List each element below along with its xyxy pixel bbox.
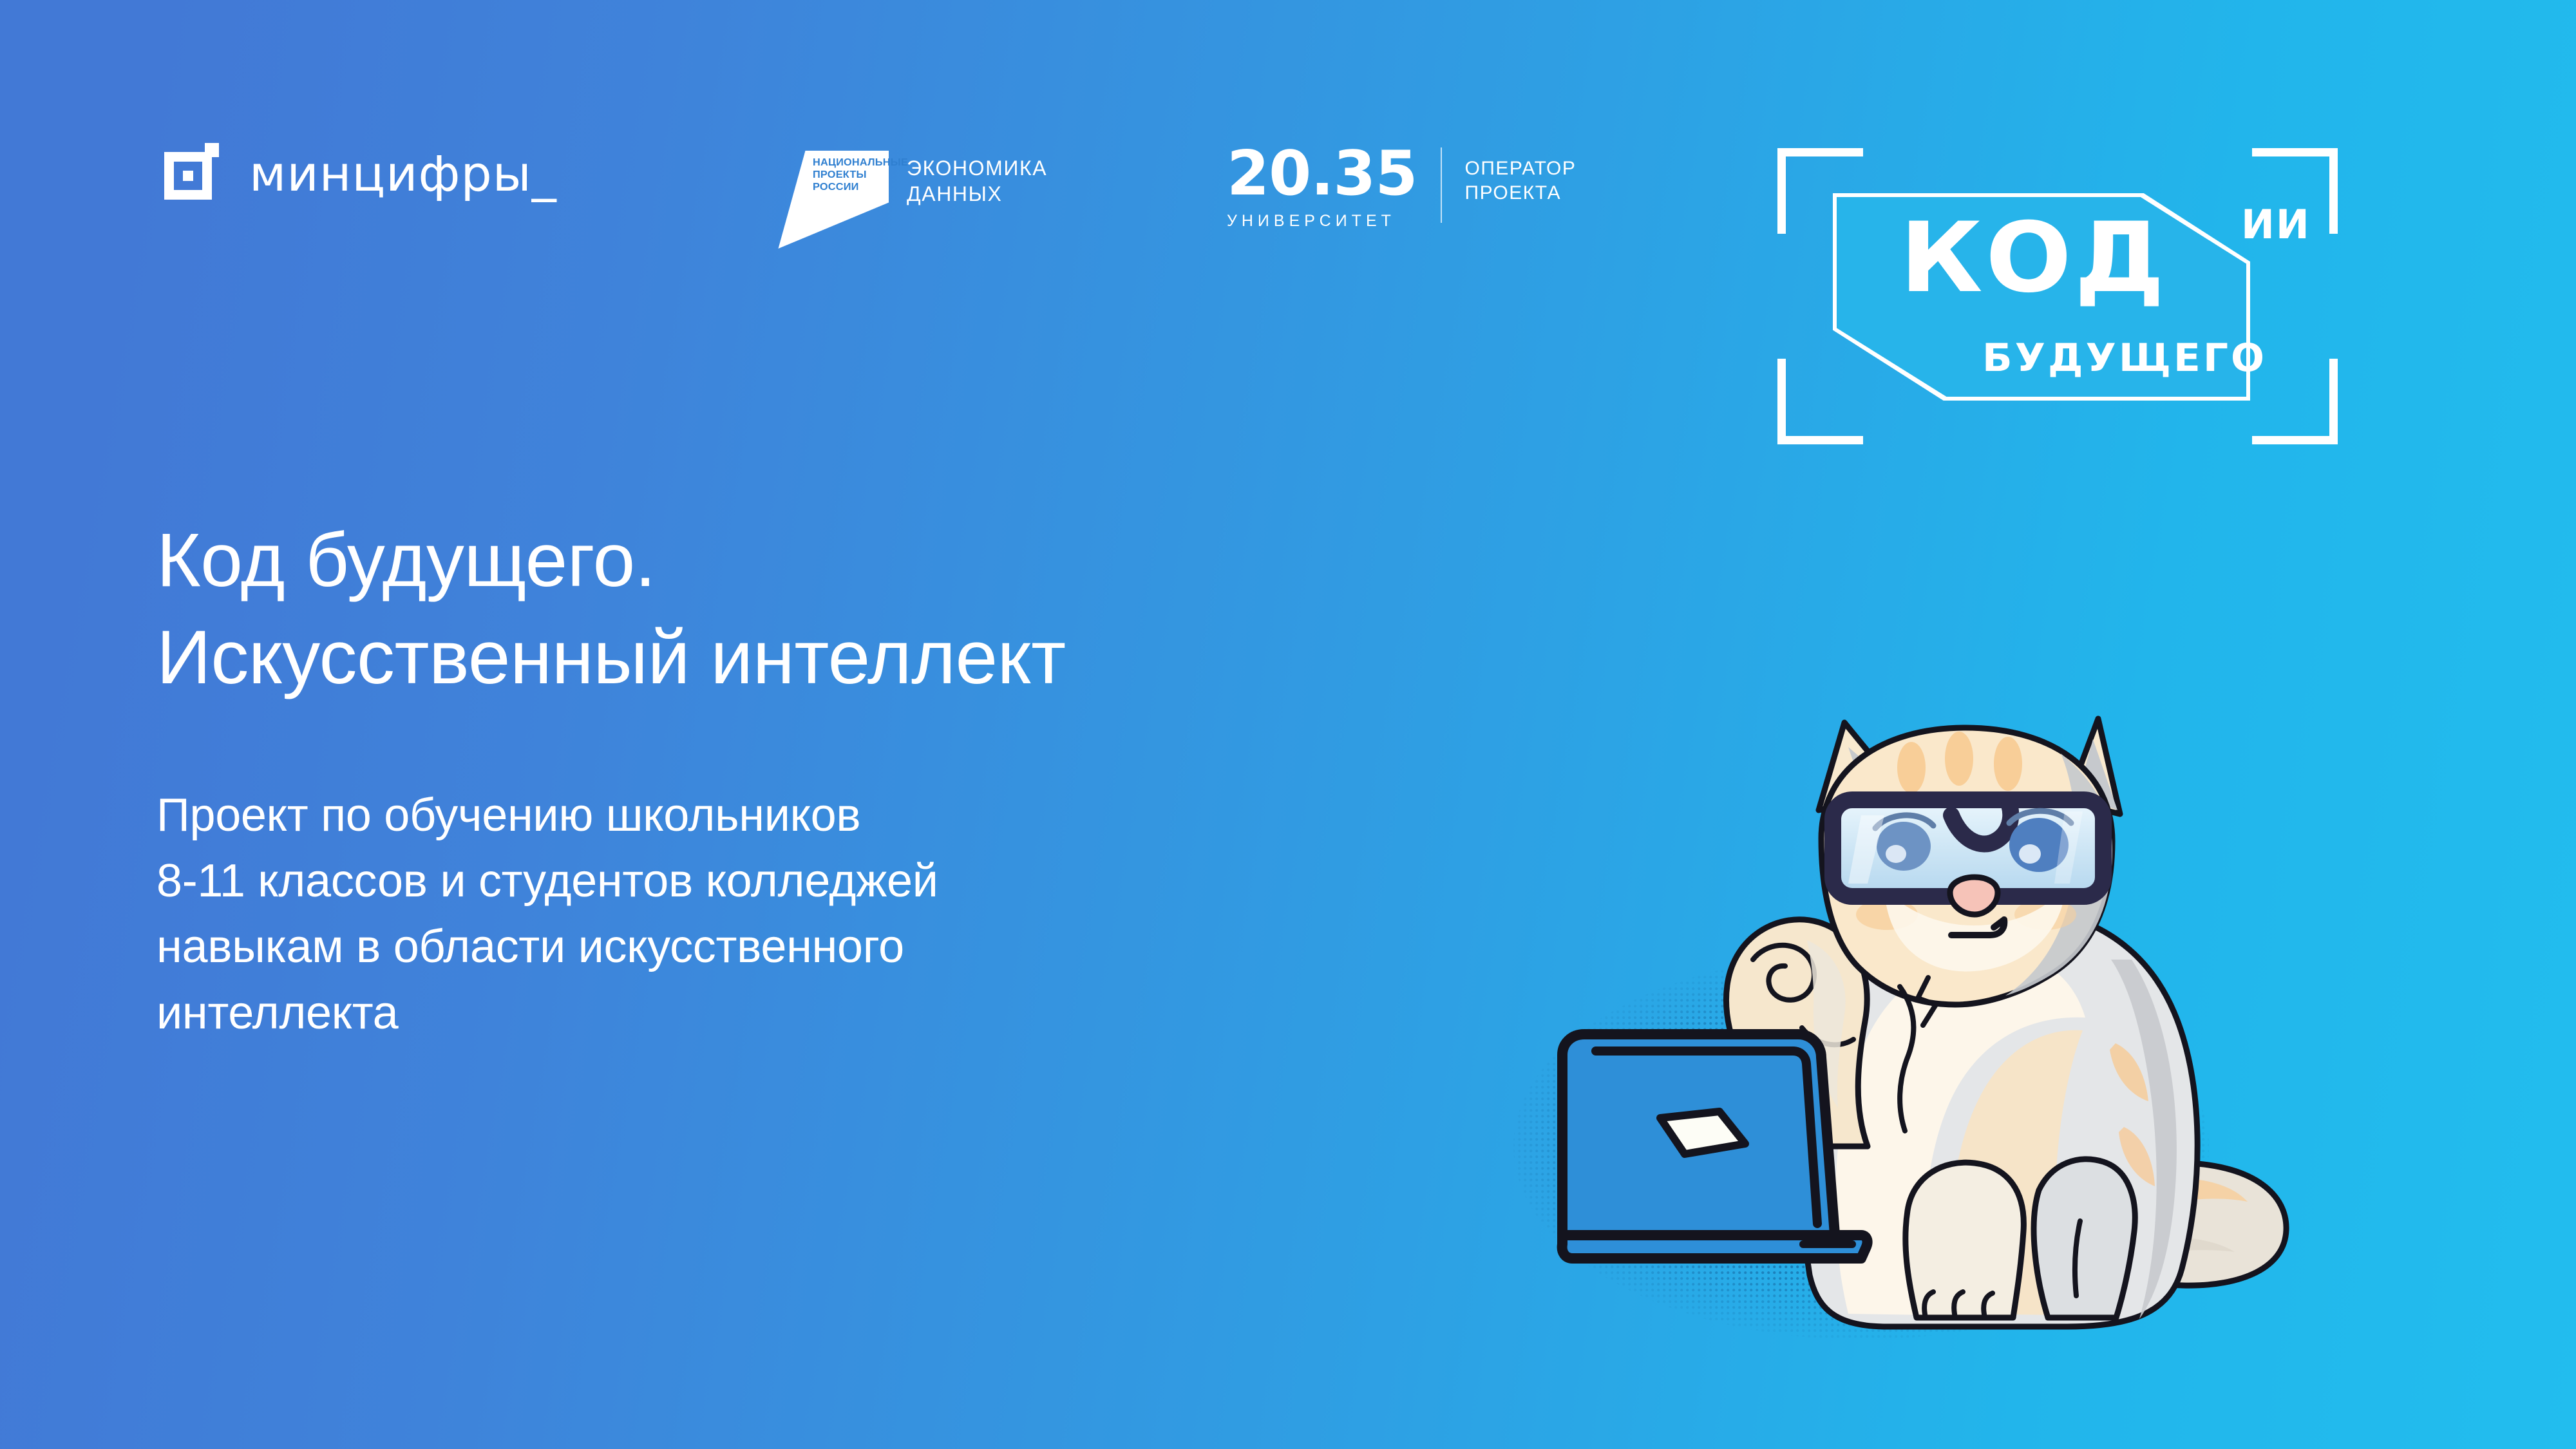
budushchego-wordmark: БУДУЩЕГО — [1982, 339, 2267, 377]
flag-line-2: ПРОЕКТЫ — [813, 169, 888, 182]
logo-university-2035[interactable]: 20.35 УНИВЕРСИТЕТ ОПЕРАТОР ПРОЕКТА — [1227, 145, 1576, 229]
national-projects-name: ЭКОНОМИКА ДАННЫХ — [907, 137, 1047, 207]
kod-ai-suffix: ИИ — [2241, 205, 2311, 245]
logo-national-projects[interactable]: НАЦИОНАЛЬНЫЕ ПРОЕКТЫ РОССИИ ЭКОНОМИКА ДА… — [776, 137, 1047, 249]
university-2035-divider — [1441, 147, 1442, 223]
flag-line-3: РОССИИ — [813, 182, 888, 194]
role-line-2: ПРОЕКТА — [1465, 181, 1577, 205]
logo-row: минцифры_ НАЦИОНАЛЬНЫЕ ПРОЕКТЫ РОССИИ ЭК… — [0, 0, 2576, 303]
poster-canvas: минцифры_ НАЦИОНАЛЬНЫЕ ПРОЕКТЫ РОССИИ ЭК… — [0, 0, 2576, 1449]
logo-mincifry[interactable]: минцифры_ — [164, 143, 557, 205]
np-name-line-1: ЭКОНОМИКА — [907, 156, 1047, 182]
flag-line-1: НАЦИОНАЛЬНЫЕ — [813, 157, 888, 169]
np-name-line-2: ДАННЫХ — [907, 182, 1047, 207]
mincifry-wordmark: минцифры_ — [249, 149, 557, 198]
university-2035-subtitle: УНИВЕРСИТЕТ — [1227, 213, 1396, 229]
kod-wordmark: КОД — [1900, 210, 2168, 307]
role-line-1: ОПЕРАТОР — [1465, 156, 1577, 181]
cat-illustration — [1501, 657, 2402, 1378]
flag-text: НАЦИОНАЛЬНЫЕ ПРОЕКТЫ РОССИИ — [813, 157, 887, 194]
university-2035-number: 20.35 — [1227, 145, 1417, 203]
mincifry-icon-dot — [205, 143, 219, 157]
university-2035-mark: 20.35 УНИВЕРСИТЕТ — [1227, 145, 1417, 229]
mincifry-icon-core — [183, 171, 193, 181]
page-subtitle: Проект по обучению школьников 8-11 класс… — [156, 782, 938, 1046]
laptop — [1562, 1034, 1868, 1258]
logo-kod-budushchego[interactable]: КОД ИИ БУДУЩЕГО — [1777, 148, 2338, 444]
mincifry-square-icon — [164, 143, 223, 205]
national-projects-flag-icon: НАЦИОНАЛЬНЫЕ ПРОЕКТЫ РОССИИ — [776, 137, 889, 249]
page-title: Код будущего. Искусственный интеллект — [156, 512, 1066, 706]
university-2035-role: ОПЕРАТОР ПРОЕКТА — [1465, 145, 1577, 229]
